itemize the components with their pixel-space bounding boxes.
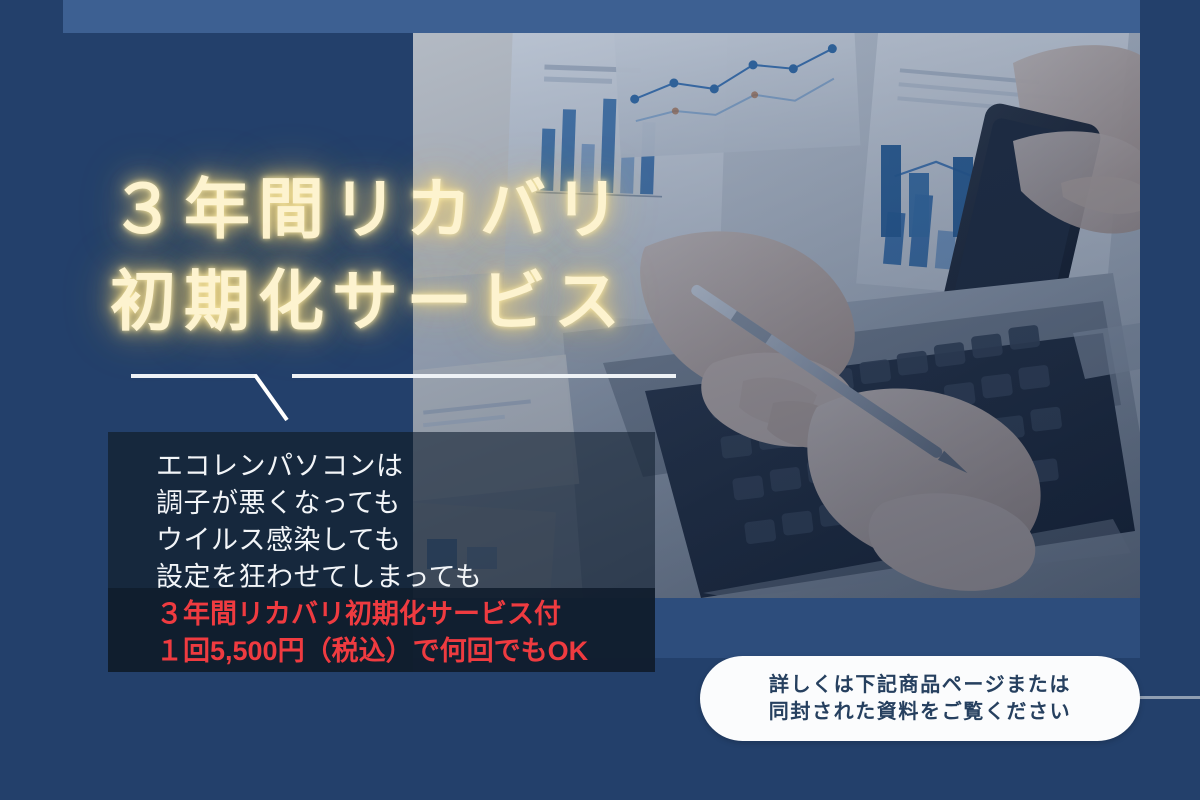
promotional-banner: ３年間リカバリ 初期化サービス エコレンパソコンは 調子が悪くなっても ウイルス… xyxy=(0,0,1200,800)
info-line-6-price: １回5,500円（税込）で何回でもOK xyxy=(156,633,588,670)
headline-line-2: 初期化サービス xyxy=(110,255,870,347)
headline: ３年間リカバリ 初期化サービス xyxy=(110,163,870,347)
callout-line-2: 同封された資料をご覧ください xyxy=(769,699,1071,726)
divider-diagonal-line xyxy=(255,375,287,420)
info-line-4: 設定を狂わせてしまっても xyxy=(156,559,588,596)
info-text-block: エコレンパソコンは 調子が悪くなっても ウイルス感染しても 設定を狂わせてしまっ… xyxy=(156,448,588,670)
top-accent-band xyxy=(63,0,1140,33)
callout-pill[interactable]: 詳しくは下記商品ページまたは 同封された資料をご覧ください xyxy=(700,656,1140,741)
info-line-1: エコレンパソコンは xyxy=(156,448,588,485)
callout-line-1: 詳しくは下記商品ページまたは xyxy=(769,672,1071,699)
info-line-2: 調子が悪くなっても xyxy=(156,485,588,522)
info-line-5-highlight: ３年間リカバリ初期化サービス付 xyxy=(156,596,588,633)
info-line-3: ウイルス感染しても xyxy=(156,522,588,559)
info-box: エコレンパソコンは 調子が悪くなっても ウイルス感染しても 設定を狂わせてしまっ… xyxy=(108,432,655,672)
headline-line-1: ３年間リカバリ xyxy=(110,163,870,255)
